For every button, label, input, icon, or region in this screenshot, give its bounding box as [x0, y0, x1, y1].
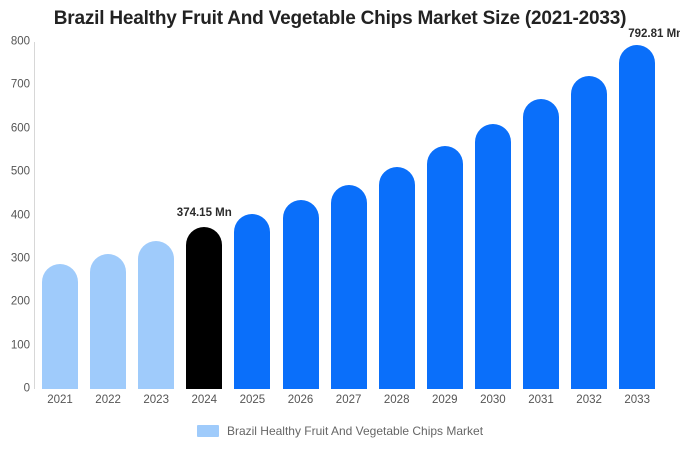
y-axis-tick: 300 [0, 253, 30, 265]
bar-chart: Brazil Healthy Fruit And Vegetable Chips… [0, 0, 680, 450]
legend-label: Brazil Healthy Fruit And Vegetable Chips… [227, 425, 483, 437]
bar-rect[interactable] [90, 254, 126, 389]
bar-rect[interactable] [619, 45, 655, 389]
bar-2024[interactable]: 374.15 Mn [186, 42, 222, 389]
bar-2026[interactable] [283, 42, 319, 389]
bar-rect[interactable] [571, 76, 607, 389]
bar-2033[interactable]: 792.81 Mn [619, 42, 655, 389]
y-axis-tick: 0 [0, 383, 30, 395]
bar-value-label-2033: 792.81 Mn [628, 29, 680, 41]
y-axis-tick: 600 [0, 123, 30, 135]
bar-rect[interactable] [427, 146, 463, 389]
x-axis-tick-2023: 2023 [138, 392, 174, 408]
x-axis-tick-2033: 2033 [619, 392, 655, 408]
x-axis-tick-2021: 2021 [42, 392, 78, 408]
y-axis-tick: 800 [0, 36, 30, 48]
bar-rect[interactable] [475, 124, 511, 389]
bar-2022[interactable] [90, 42, 126, 389]
x-axis-tick-2030: 2030 [475, 392, 511, 408]
bar-2027[interactable] [331, 42, 367, 389]
bar-rect[interactable] [331, 185, 367, 389]
bar-value-label-2024: 374.15 Mn [177, 208, 232, 220]
x-axis-tick-2029: 2029 [427, 392, 463, 408]
bar-2032[interactable] [571, 42, 607, 389]
bar-rect[interactable] [234, 214, 270, 389]
y-axis: 0100200300400500600700800 [0, 42, 30, 389]
x-axis-tick-2031: 2031 [523, 392, 559, 408]
x-axis-tick-2026: 2026 [283, 392, 319, 408]
bar-rect[interactable] [138, 241, 174, 389]
x-axis-tick-2024: 2024 [186, 392, 222, 408]
chart-title: Brazil Healthy Fruit And Vegetable Chips… [0, 8, 680, 30]
bar-2030[interactable] [475, 42, 511, 389]
x-axis-tick-2025: 2025 [234, 392, 270, 408]
bar-rect[interactable] [42, 264, 78, 389]
bar-2021[interactable] [42, 42, 78, 389]
x-axis-tick-2032: 2032 [571, 392, 607, 408]
x-axis-tick-2027: 2027 [331, 392, 367, 408]
y-axis-tick: 200 [0, 297, 30, 309]
bar-2025[interactable] [234, 42, 270, 389]
y-axis-tick: 400 [0, 210, 30, 222]
bar-2031[interactable] [523, 42, 559, 389]
x-axis: 2021202220232024202520262027202820292030… [34, 392, 679, 412]
legend: Brazil Healthy Fruit And Vegetable Chips… [0, 425, 680, 437]
bar-2023[interactable] [138, 42, 174, 389]
bar-2028[interactable] [379, 42, 415, 389]
x-axis-tick-2022: 2022 [90, 392, 126, 408]
bar-rect[interactable] [186, 227, 222, 389]
bar-rect[interactable] [379, 167, 415, 390]
y-axis-tick: 700 [0, 80, 30, 92]
y-axis-tick: 500 [0, 166, 30, 178]
bar-rect[interactable] [523, 99, 559, 389]
bar-2029[interactable] [427, 42, 463, 389]
bar-rect[interactable] [283, 200, 319, 389]
legend-swatch [197, 425, 219, 437]
x-axis-tick-2028: 2028 [379, 392, 415, 408]
bars-layer: 374.15 Mn792.81 Mn [34, 42, 679, 389]
y-axis-tick: 100 [0, 340, 30, 352]
